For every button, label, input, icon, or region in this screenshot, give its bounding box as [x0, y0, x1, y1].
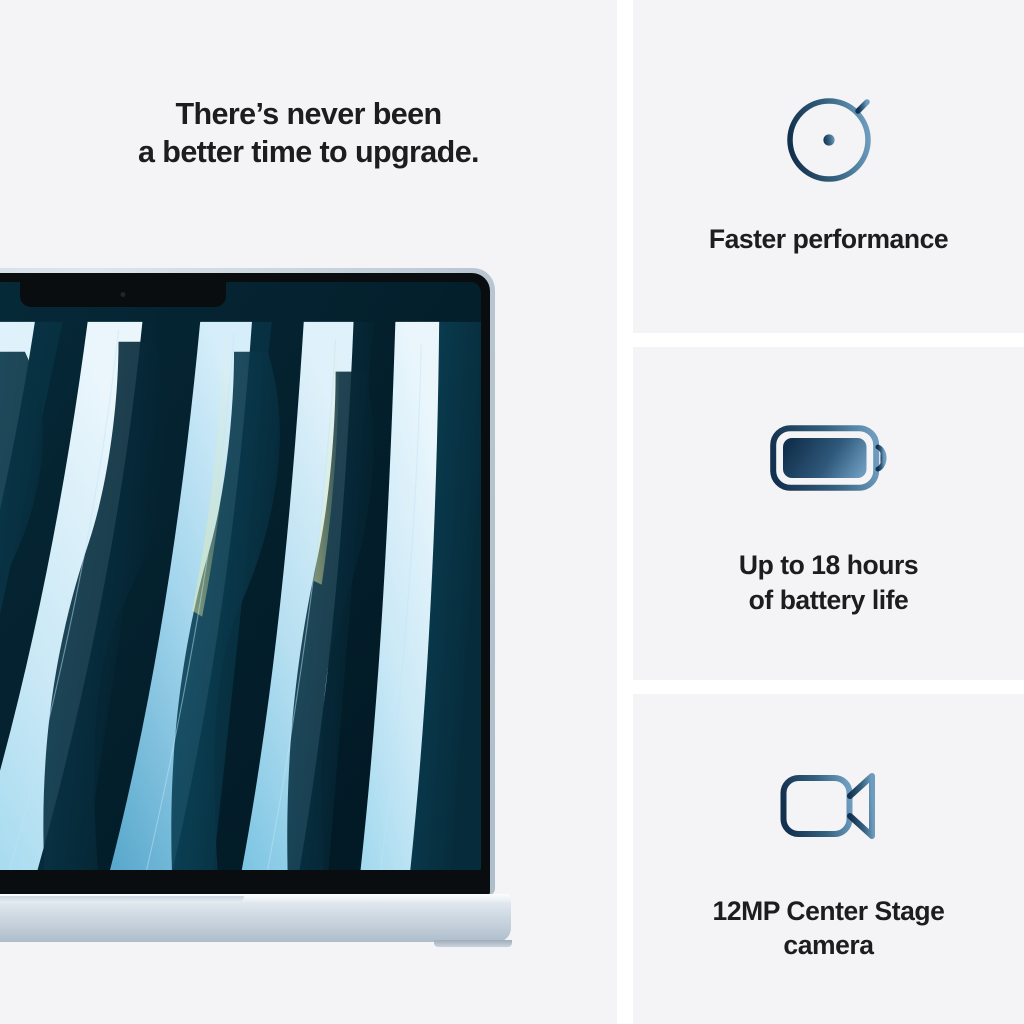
feature-label-line: 12MP Center Stage — [713, 894, 945, 928]
stopwatch-icon — [777, 76, 881, 186]
feature-card-camera: 12MP Center Stage camera — [633, 694, 1024, 1024]
feature-label-line: of battery life — [739, 583, 918, 617]
battery-full-icon-svg — [770, 425, 888, 491]
laptop-lid — [0, 268, 495, 896]
base-thumb-notch — [0, 896, 244, 903]
video-camera-icon — [780, 756, 878, 852]
battery-full-icon — [770, 410, 888, 506]
feature-card-battery: Up to 18 hours of battery life — [633, 347, 1024, 680]
display-screen — [0, 282, 481, 870]
product-feature-page: There’s never been a better time to upgr… — [0, 0, 1024, 1024]
feature-label-camera: 12MP Center Stage camera — [713, 894, 945, 963]
display-bezel — [0, 273, 490, 896]
feature-label-line: Faster performance — [709, 222, 948, 256]
feature-label-performance: Faster performance — [709, 222, 948, 256]
feature-card-performance: Faster performance — [633, 0, 1024, 333]
video-camera-icon-svg — [780, 769, 878, 839]
center-stage-camera-icon — [120, 292, 125, 297]
macbook-product-image — [0, 268, 495, 948]
laptop-base — [0, 894, 511, 942]
feature-label-battery: Up to 18 hours of battery life — [739, 548, 918, 617]
hero-panel: There’s never been a better time to upgr… — [0, 0, 617, 1024]
base-foot — [434, 940, 512, 947]
page-title: There’s never been a better time to upgr… — [0, 96, 617, 172]
headline-line-2: a better time to upgrade. — [0, 134, 617, 172]
feature-label-line: Up to 18 hours — [739, 548, 918, 582]
feature-label-line: camera — [713, 928, 945, 962]
headline-line-1: There’s never been — [0, 96, 617, 134]
desktop-wallpaper — [0, 282, 481, 870]
display-notch — [20, 282, 226, 307]
feature-column: Faster performance — [633, 0, 1024, 1024]
stopwatch-icon-svg — [777, 76, 881, 186]
